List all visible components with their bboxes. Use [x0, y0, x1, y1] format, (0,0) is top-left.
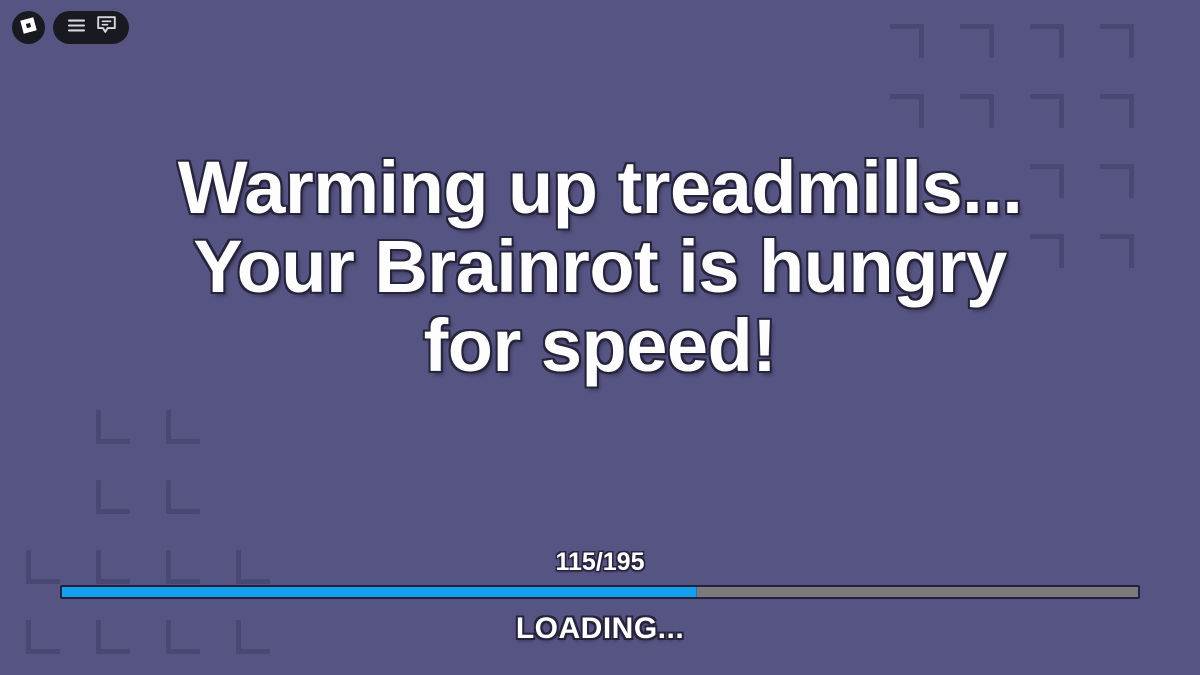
progress-bar-fill	[62, 587, 697, 597]
decorative-bracket-tr	[960, 94, 994, 128]
decorative-bracket-tr	[1100, 24, 1134, 58]
roblox-chrome-pill	[53, 11, 129, 44]
loading-status-label: LOADING...	[0, 612, 1200, 646]
decorative-bracket-empty	[26, 480, 60, 514]
decorative-bracket-tr	[890, 24, 924, 58]
decorative-bracket-bl	[96, 410, 130, 444]
progress-bar-track	[60, 585, 1140, 599]
decorative-bracket-empty	[26, 410, 60, 444]
chat-bubble-icon	[97, 16, 116, 39]
roblox-top-bar	[12, 11, 129, 44]
decorative-bracket-tr	[960, 24, 994, 58]
hamburger-menu-button[interactable]	[63, 15, 89, 41]
progress-count-label: 115/195	[0, 548, 1200, 577]
decorative-bracket-tr	[890, 94, 924, 128]
roblox-home-button[interactable]	[12, 11, 45, 44]
decorative-bracket-tr	[1030, 94, 1064, 128]
decorative-bracket-bl	[96, 480, 130, 514]
decorative-bracket-bl	[166, 480, 200, 514]
progress-area: 115/195 LOADING...	[0, 548, 1200, 646]
roblox-logo-icon	[19, 16, 38, 40]
loading-screen: Warming up treadmills... Your Brainrot i…	[0, 0, 1200, 675]
decorative-bracket-empty	[236, 480, 270, 514]
hamburger-menu-icon	[68, 19, 85, 37]
loading-headline: Warming up treadmills... Your Brainrot i…	[0, 148, 1200, 385]
decorative-bracket-tr	[1030, 24, 1064, 58]
chat-button[interactable]	[93, 15, 119, 41]
decorative-bracket-bl	[166, 410, 200, 444]
decorative-bracket-tr	[1100, 94, 1134, 128]
decorative-bracket-empty	[236, 410, 270, 444]
